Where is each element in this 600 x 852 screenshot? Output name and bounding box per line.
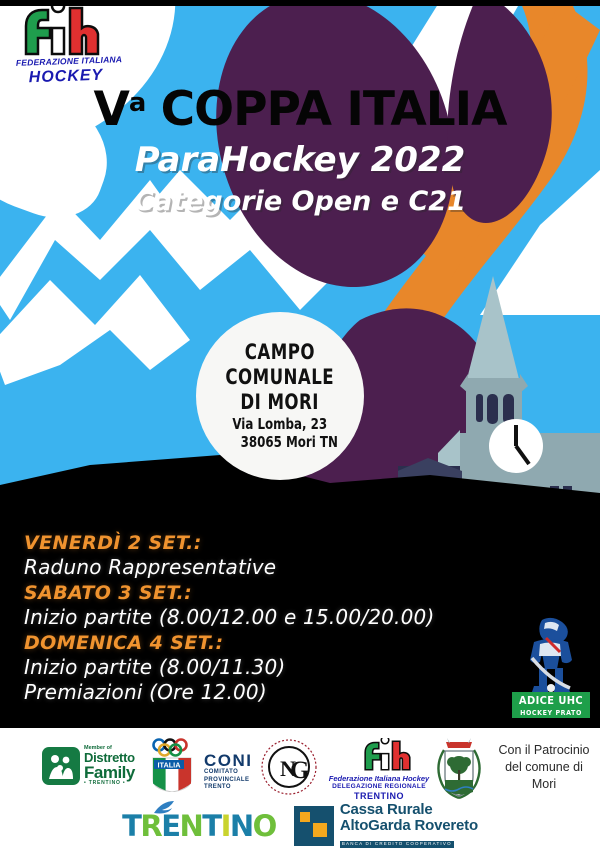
sponsor-ng: N G	[258, 738, 324, 798]
coni-name: CONI	[204, 752, 253, 769]
cassa-rurale-text: Cassa Rurale AltoGarda Rovereto BANCA DI…	[340, 802, 478, 850]
fih-regional-line2: DELEGAZIONE REGIONALE	[324, 783, 434, 790]
schedule-list: VENERDÌ 2 SET.: Raduno Rappresentative S…	[24, 529, 494, 704]
trentino-bird-icon	[152, 799, 178, 817]
title-prefix: V	[93, 82, 128, 137]
sponsor-row-1: Member of Distretto Family • TRENTINO •	[0, 732, 600, 800]
sponsor-footer: Member of Distretto Family • TRENTINO •	[0, 728, 600, 852]
venue-badge: CAMPO COMUNALE DI MORI Via Lomba, 23 380…	[196, 312, 364, 480]
distretto-family-icon	[42, 747, 80, 785]
ng-monogram-icon: N G	[258, 738, 320, 796]
mori-coat-of-arms-icon	[428, 734, 490, 800]
cassa-line2: AltoGarda Rovereto	[340, 818, 478, 834]
coni-sub2: PROVINCIALE	[204, 777, 253, 785]
fih-regional-monogram-icon	[324, 738, 434, 774]
schedule-day-1: SABATO 3 SET.:	[24, 582, 494, 604]
schedule-day-2: DOMENICA 4 SET.:	[24, 632, 494, 654]
schedule-detail-2-1: Premiazioni (Ore 12.00)	[24, 680, 494, 704]
sponsor-row-2: TRENTINO Cassa Rurale AltoGarda Rovereto…	[0, 802, 600, 850]
top-black-bar	[0, 0, 600, 6]
fih-regional-line1: Federazione Italiana Hockey	[324, 774, 434, 783]
coni-flag-rings-icon: ITALIA	[148, 738, 200, 792]
sponsor-coni: ITALIA CONI COMITATO PROVINCIALE TRENTO	[148, 738, 268, 796]
fih-logo: FEDERAZIONE ITALIANA HOCKEY	[8, 6, 128, 90]
patronage-line3: Mori	[492, 776, 596, 793]
cassa-line1: Cassa Rurale	[340, 802, 478, 818]
svg-text:G: G	[290, 757, 309, 784]
sponsor-fih-trentino: Federazione Italiana Hockey DELEGAZIONE …	[324, 738, 434, 798]
sponsor-mori-crest	[428, 734, 490, 800]
poster-subtitle-categories: Categorie Open e C21	[0, 186, 600, 217]
coni-sub1: COMITATO	[204, 769, 253, 777]
fih-regional-line3: TRENTINO	[324, 791, 434, 801]
schedule-detail-2-0: Inizio partite (8.00/11.30)	[24, 655, 494, 679]
venue-line-1: CAMPO	[245, 340, 315, 365]
patronage-text: Con il Patrocinio del comune di Mori	[492, 742, 596, 793]
club-subtitle: HOCKEY PRATO	[512, 709, 590, 717]
fih-logo-line2: HOCKEY	[10, 66, 123, 88]
venue-line-3: DI MORI	[241, 390, 320, 415]
club-logo: ADICE UHC HOCKEY PRATO	[512, 614, 590, 718]
fih-monogram-icon	[8, 6, 128, 58]
poster-subtitle: ParaHockey 2022	[0, 140, 600, 180]
schedule-panel: VENERDÌ 2 SET.: Raduno Rappresentative S…	[0, 525, 600, 728]
hockey-player-icon	[512, 614, 590, 696]
sponsor-trentino: TRENTINO	[122, 809, 276, 843]
distretto-line2: Family	[84, 764, 135, 781]
patronage-line2: del comune di	[492, 759, 596, 776]
sponsor-distretto-family: Member of Distretto Family • TRENTINO •	[42, 742, 150, 790]
cassa-line2b: Rovereto	[415, 817, 478, 834]
venue-line-2: COMUNALE	[226, 365, 335, 390]
title-ordinal: a	[129, 88, 145, 118]
coni-sub3: TRENTO	[204, 784, 253, 792]
venue-address-1: Via Lomba, 23	[233, 415, 328, 434]
schedule-detail-0-0: Raduno Rappresentative	[24, 555, 494, 579]
coni-text: CONI COMITATO PROVINCIALE TRENTO	[204, 752, 253, 792]
schedule-detail-1-0: Inizio partite (8.00/12.00 e 15.00/20.00…	[24, 605, 494, 629]
club-name: ADICE UHC	[512, 694, 590, 707]
patronage-line1: Con il Patrocinio	[492, 742, 596, 759]
venue-address-2: 38065 Mori TN	[240, 433, 337, 452]
poster-title: Va COPPA ITALIA	[0, 82, 600, 137]
sponsor-cassa-rurale: Cassa Rurale AltoGarda Rovereto BANCA DI…	[294, 802, 478, 850]
cassa-rurale-icon	[294, 806, 334, 846]
distretto-family-text: Member of Distretto Family • TRENTINO •	[84, 746, 135, 787]
title-rest: COPPA ITALIA	[145, 82, 506, 137]
coni-flag-label: ITALIA	[158, 760, 182, 769]
trentino-wordmark: TRENTINO	[122, 809, 276, 843]
cassa-line3: BANCA DI CREDITO COOPERATIVO	[340, 841, 454, 848]
distretto-line3: • TRENTINO •	[84, 781, 135, 786]
poster-root: FEDERAZIONE ITALIANA HOCKEY Va COPPA ITA…	[0, 0, 600, 852]
schedule-day-0: VENERDÌ 2 SET.:	[24, 532, 494, 554]
cassa-line2a: AltoGarda	[340, 817, 411, 834]
